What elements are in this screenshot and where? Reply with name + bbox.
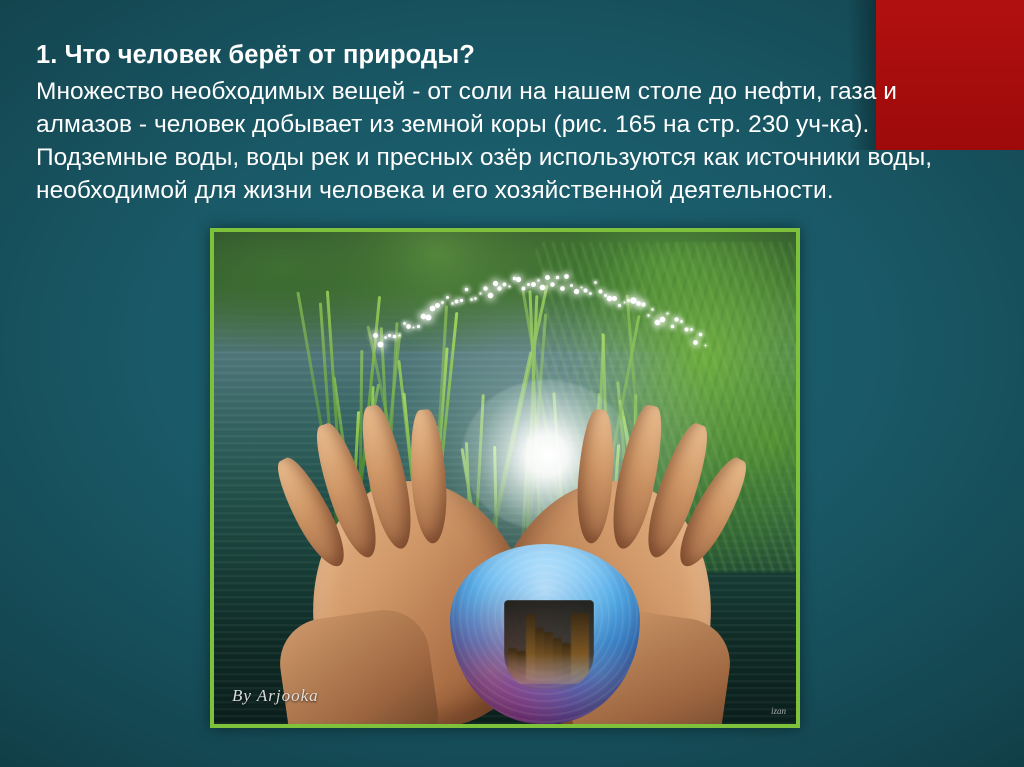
sparkle (455, 300, 459, 304)
sparkle-arc (374, 272, 704, 402)
sparkle (550, 282, 555, 287)
body-line: Множество необходимых вещей - от соли на… (36, 75, 966, 108)
sparkle (426, 315, 432, 321)
slide-text-block: 1. Что человек берёт от природы? Множест… (36, 40, 966, 207)
sparkle (483, 286, 488, 291)
sparkle (581, 287, 583, 289)
body-line: Подземные воды, воды рек и пресных озёр … (36, 141, 966, 174)
page-title: 1. Что человек берёт от природы? (36, 40, 966, 71)
sparkle (666, 312, 668, 314)
sparkle (435, 303, 440, 308)
sparkle (503, 283, 507, 287)
sparkle (479, 292, 481, 294)
sparkle (474, 297, 477, 300)
sparkle (690, 328, 693, 331)
sparkle (470, 298, 473, 301)
sparkle (393, 335, 397, 339)
sparkle (594, 281, 597, 284)
sparkle (540, 285, 546, 291)
sparkle (446, 296, 449, 299)
slide-image-frame: By Arjooka izan (210, 228, 800, 728)
city-tower (535, 628, 544, 684)
sparkle (660, 317, 666, 323)
sparkle (388, 334, 391, 337)
sparkle (680, 320, 683, 323)
sparkle (537, 279, 539, 281)
sparkle (417, 325, 420, 328)
sparkle (441, 301, 444, 304)
sparkle (560, 286, 565, 291)
sparkle (384, 336, 387, 339)
city-tower (544, 632, 553, 684)
sparkle (497, 286, 502, 291)
sparkle (641, 302, 646, 307)
sparkle (522, 287, 526, 291)
sparkle (647, 314, 649, 316)
sparkle (508, 285, 510, 287)
sparkle (570, 284, 573, 287)
sparkle (618, 304, 621, 307)
sparkle (516, 277, 521, 282)
sparkle (598, 289, 602, 293)
sparkle (684, 327, 688, 331)
sparkle (574, 289, 579, 294)
city-tower (571, 613, 580, 684)
presentation-slide: 1. Что человек берёт от природы? Множест… (0, 0, 1024, 767)
slide-body-text: Множество необходимых вещей - от соли на… (36, 75, 966, 207)
city-tower (553, 638, 562, 684)
sparkle (583, 288, 587, 292)
photo-credit: By Arjooka (232, 686, 319, 706)
body-line: необходимой для жизни человека и его хоз… (36, 174, 966, 207)
sparkle (705, 345, 707, 347)
sparkle (488, 293, 494, 299)
sparkle (465, 288, 469, 292)
sparkle (406, 324, 411, 329)
sparkle (612, 296, 617, 301)
sparkle (460, 299, 463, 302)
sparkle (373, 333, 378, 338)
sparkle (651, 308, 653, 310)
photo-signature: izan (771, 706, 786, 716)
sparkle (564, 274, 569, 279)
sparkle (589, 292, 592, 295)
city-tower (508, 648, 517, 684)
body-line: алмазов - человек добывает из земной кор… (36, 108, 966, 141)
sparkle (674, 317, 679, 322)
city-tower (580, 613, 589, 684)
sparkle (693, 340, 698, 345)
sparkle (493, 281, 498, 286)
sparkle (545, 275, 550, 280)
sparkle (699, 333, 703, 337)
sparkle (398, 334, 400, 336)
nature-photo: By Arjooka izan (214, 232, 796, 724)
sparkle (556, 276, 560, 280)
sparkle (636, 301, 641, 306)
sparkle (624, 302, 626, 304)
sparkle (527, 283, 530, 286)
sparkle (671, 325, 675, 329)
city-tower (526, 614, 535, 684)
sparkle (531, 282, 536, 287)
sparkle (451, 302, 453, 304)
city-reflection (504, 600, 594, 690)
city-tower (562, 643, 571, 684)
sparkle (413, 327, 415, 329)
city-tower (517, 651, 526, 684)
sparkle (378, 342, 384, 348)
